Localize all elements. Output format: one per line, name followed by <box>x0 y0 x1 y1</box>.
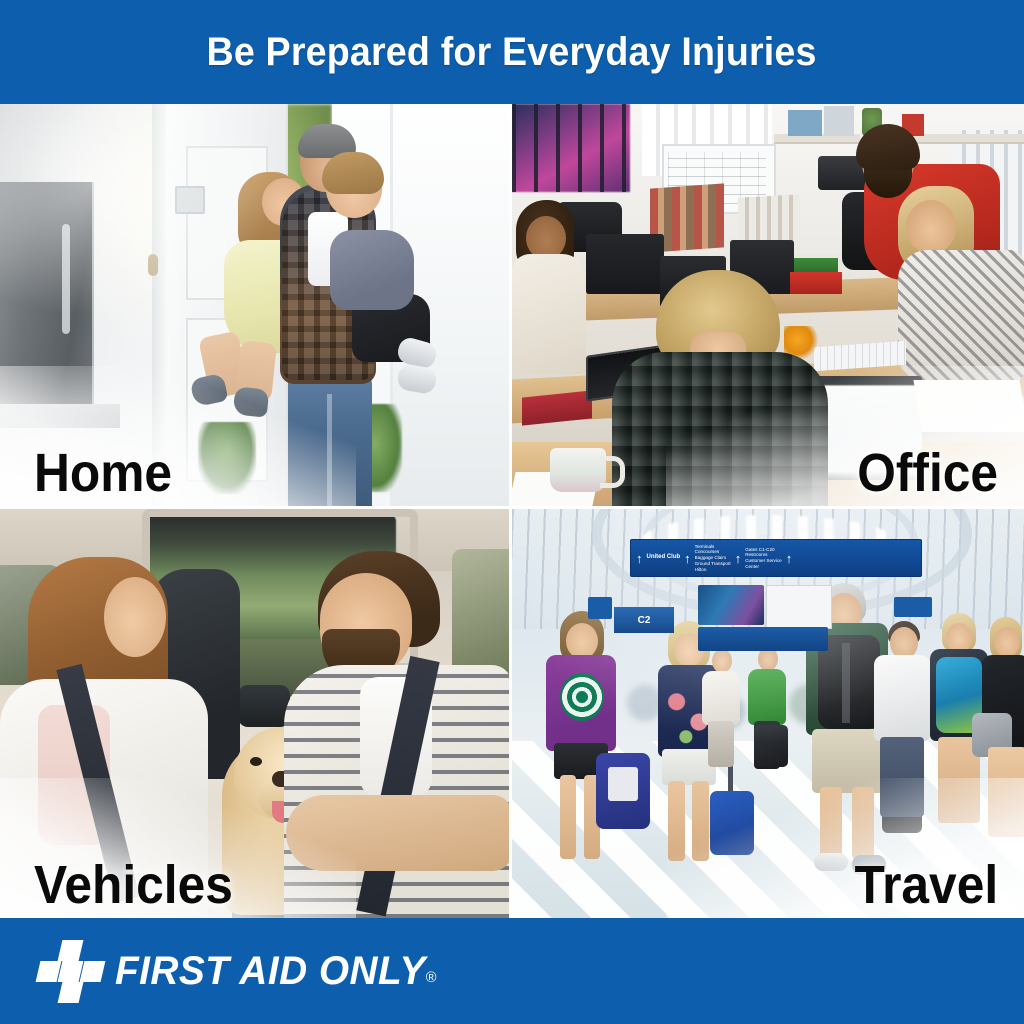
office-paper-right <box>913 380 1024 432</box>
office-red-box <box>790 272 842 294</box>
brand-logo-text: FIRST AID ONLY® <box>115 949 437 994</box>
travel-sign-small-right <box>894 597 932 617</box>
travel-sign-right-list: Gates C1-C20 Restrooms Customer Service … <box>745 547 782 570</box>
travel-sign-item: Hilton <box>695 567 731 573</box>
travel-wayfinding-sign: ↑ United Club ↑ Terminals Concourses Bag… <box>630 539 922 577</box>
cell-label-vehicles: Vehicles <box>34 858 233 912</box>
office-monitor-1 <box>586 234 664 294</box>
brand-name: FIRST AID ONLY <box>115 949 426 993</box>
cell-label-office: Office <box>857 446 998 500</box>
grid-cell-office[interactable]: Office <box>512 104 1024 506</box>
travel-advertisement-screen <box>698 585 764 625</box>
cross-block-right <box>80 961 106 982</box>
arrow-up-icon-3: ↑ <box>735 552 742 565</box>
office-coffee-mug <box>550 448 606 492</box>
cell-label-home: Home <box>34 446 172 500</box>
office-woman-blonde-head <box>906 200 956 254</box>
poster: Be Prepared for Everyday Injuries <box>0 0 1024 1024</box>
travel-notice-sign <box>766 585 832 629</box>
brand-logo[interactable]: FIRST AID ONLY® <box>38 940 442 1002</box>
office-woman-blonde-blouse <box>898 250 1024 382</box>
office-coffee-mug-handle <box>600 456 625 488</box>
vehicles-dog-eye-left <box>250 757 262 766</box>
arrow-up-icon: ↑ <box>636 552 643 565</box>
office-shelf-box-blue <box>788 110 822 136</box>
vehicles-woman-face <box>104 577 166 657</box>
page-title: Be Prepared for Everyday Injuries <box>207 30 817 75</box>
travel-sign-united-club: United Club <box>647 554 681 562</box>
registered-trademark-icon: ® <box>426 969 437 986</box>
footer-bar: FIRST AID ONLY® <box>0 918 1024 1024</box>
travel-gate-sign: C2 <box>614 607 674 633</box>
travel-sign-small-left <box>588 597 612 619</box>
office-shelf-box-grey <box>824 106 854 136</box>
vehicles-man-arm <box>286 795 509 871</box>
grid-cell-travel[interactable]: ↑ United Club ↑ Terminals Concourses Bag… <box>512 509 1024 918</box>
travel-secondary-sign <box>698 627 828 651</box>
travel-notice-sign-text <box>770 589 828 625</box>
grid-cell-home[interactable]: Home <box>0 104 509 506</box>
photo-grid: Home <box>0 104 1024 918</box>
header-bar: Be Prepared for Everyday Injuries <box>0 0 1024 104</box>
travel-sign-middle-list: Terminals Concourses Baggage Claim Groun… <box>695 544 731 573</box>
vehicles-rear-headrest-left <box>238 685 290 727</box>
grid-cell-vehicles[interactable]: Vehicles <box>0 509 509 918</box>
travel-gate-sign-label: C2 <box>614 607 674 633</box>
office-foreground-person-plaid-shirt <box>612 352 828 506</box>
arrow-up-icon-2: ↑ <box>684 552 691 565</box>
cross-block-top <box>58 940 84 961</box>
cell-label-travel: Travel <box>854 858 998 912</box>
first-aid-cross-icon <box>38 940 100 1002</box>
office-window-bars <box>512 104 630 192</box>
travel-sign-item: Center <box>745 564 782 570</box>
office-woman-curly-top <box>512 254 586 374</box>
arrow-up-icon-4: ↑ <box>786 552 793 565</box>
cross-block-bottom <box>58 982 84 1003</box>
vehicles-window-right <box>452 549 509 679</box>
